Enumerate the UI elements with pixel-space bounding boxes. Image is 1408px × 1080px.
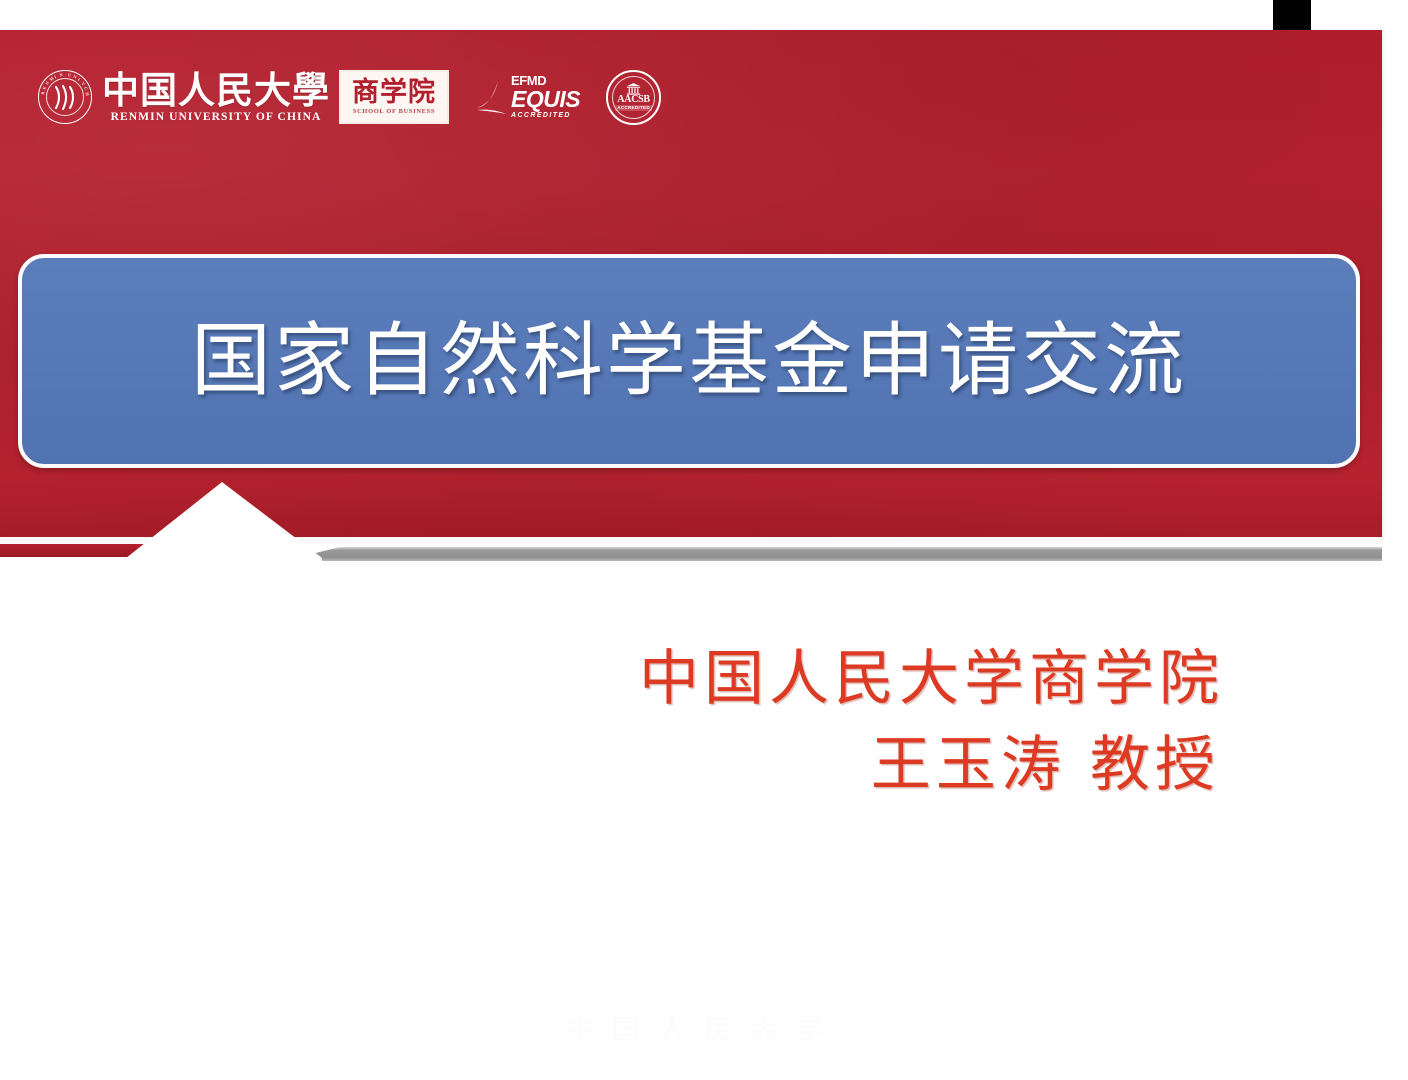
equis-label: EQUIS	[511, 88, 580, 111]
aacsb-label: AACSB	[617, 95, 649, 105]
school-name-cn: 商学院	[352, 79, 436, 107]
aacsb-accredited-label: ACCREDITED	[615, 105, 652, 111]
school-of-business-lockup: 商学院 SCHOOL OF BUSINESS	[339, 70, 449, 124]
ruc-seal-icon: R E N M I N U N I V C H	[38, 70, 92, 124]
university-name-cn: 中国人民大學	[102, 71, 330, 109]
page-title: 国家自然科学基金申请交流	[191, 319, 1187, 403]
university-wordmark: 中国人民大學 RENMIN UNIVERSITY OF CHINA	[102, 71, 330, 123]
title-plaque: 国家自然科学基金申请交流	[18, 254, 1360, 468]
presenter-affiliation: 中国人民大学商学院	[0, 636, 1224, 722]
bottom-watermark: 中国人民大学	[0, 1008, 1408, 1048]
aacsb-accreditation-logo: AACSB ACCREDITED	[606, 70, 661, 125]
white-chevron-notch	[126, 482, 322, 562]
equis-accredited-label: ACCREDITED	[511, 112, 571, 120]
equis-accreditation-logo: EFMD EQUIS ACCREDITED	[475, 74, 580, 120]
efmd-swoosh-icon	[475, 77, 509, 117]
branding-logo-row: R E N M I N U N I V C H	[38, 58, 661, 136]
presenter-name: 王玉涛 教授	[0, 722, 1224, 808]
school-name-en: SCHOOL OF BUSINESS	[353, 108, 435, 115]
seal-ring-text: R E N M I N U N I V C H	[40, 72, 90, 122]
presentation-slide: R E N M I N U N I V C H	[0, 0, 1408, 1080]
university-name-en: RENMIN UNIVERSITY OF CHINA	[102, 111, 330, 123]
presenter-block: 中国人民大学商学院 王玉涛 教授	[0, 636, 1224, 808]
thin-gray-stripe	[283, 547, 1382, 561]
